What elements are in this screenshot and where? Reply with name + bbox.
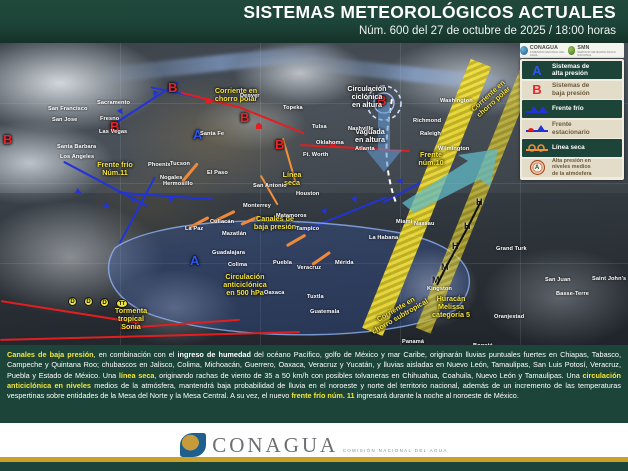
page-header: SISTEMAS METEOROLÓGICOS ACTUALES Núm. 60…: [0, 0, 628, 43]
grid-line: [0, 183, 628, 184]
forecast-summary-text: Canales de baja presión, en combinación …: [7, 350, 621, 402]
legend-label-stationary-front: Frente estacionario: [550, 121, 590, 136]
cold-front-barb: [168, 197, 174, 203]
legend-item-low-pressure[interactable]: B Sistemas de baja presión: [522, 81, 622, 99]
storm-marker-D: D: [84, 297, 93, 306]
legend-label-dry-line: Línea seca: [550, 144, 585, 151]
forecast-summary: Canales de baja presión, en combinación …: [0, 345, 628, 423]
cold-front-icon: [524, 101, 550, 117]
storm-marker-TT: TT: [116, 299, 128, 308]
legend-label-cold-front: Frente frío: [550, 105, 584, 112]
map-legend[interactable]: A Sistemas de alta presión B Sistemas de…: [520, 59, 624, 180]
legend-item-dry-line[interactable]: Línea seca: [522, 139, 622, 157]
conagua-footer-name: CONAGUA: [212, 433, 338, 457]
legend-label-high-pressure: Sistemas de alta presión: [550, 63, 589, 78]
smn-mark-icon: [568, 46, 576, 55]
pressure-high-A: A: [193, 128, 202, 141]
conagua-footer-subtitle: COMISIÓN NACIONAL DEL AGUA: [343, 448, 448, 453]
summary-highlight: Canales de baja presión: [7, 350, 94, 359]
footer-green-bar: [0, 462, 628, 471]
melissa-track-line: [425, 195, 491, 295]
storm-marker-D: D: [100, 298, 109, 307]
conagua-footer-logo: CONAGUA COMISIÓN NACIONAL DEL AGUA: [180, 433, 448, 458]
summary-highlight: frente frío núm. 11: [291, 391, 354, 400]
weather-map[interactable]: A A B B B B B B H H H M M D D D TT Corri…: [0, 43, 628, 345]
smn-logo: SMN SERVICIO METEOROLÓGICO NACIONAL: [568, 45, 624, 57]
pressure-low-B: B: [377, 94, 386, 107]
cold-front-barb: [130, 197, 136, 203]
conagua-logo: CONAGUA COMISIÓN NACIONAL DEL AGUA: [520, 45, 568, 57]
smn-logo-subtext: SERVICIO METEOROLÓGICO NACIONAL: [577, 51, 624, 57]
flow-arrow-teal-2: [350, 98, 410, 178]
letter-B-icon: B: [524, 82, 550, 98]
smn-logo-text: SMN: [577, 45, 589, 51]
legend-item-high-pressure[interactable]: A Sistemas de alta presión: [522, 61, 622, 79]
summary-text-run: ingresará durante la noche al noroeste d…: [355, 391, 519, 400]
conagua-eagle-icon: [180, 433, 206, 457]
cyclone-seal-icon: A: [524, 160, 550, 176]
legend-item-stationary-front[interactable]: Frente estacionario: [522, 120, 622, 138]
pressure-low-B: B: [275, 138, 284, 151]
legend-item-mid-level-high[interactable]: A Alta presión en niveles medios de la a…: [522, 159, 622, 177]
dry-line-icon: [524, 140, 550, 156]
summary-text-run: , originando rachas de viento de 35 a 50…: [154, 371, 582, 380]
legend-label-mid-level-high: Alta presión en niveles medios de la atm…: [550, 158, 592, 177]
pressure-low-B: B: [240, 111, 249, 124]
warm-front-bump: [330, 142, 336, 148]
pressure-low-B: B: [168, 81, 177, 94]
page-title: SISTEMAS METEOROLÓGICOS ACTUALES: [243, 2, 616, 23]
page-subtitle: Núm. 600 del 27 de octubre de 2025 / 18:…: [359, 25, 616, 37]
summary-highlight: ingreso de humedad: [178, 350, 251, 359]
summary-highlight: línea seca: [119, 371, 155, 380]
warm-front-bump: [205, 98, 211, 104]
pressure-high-A: A: [190, 254, 199, 267]
legend-label-low-pressure: Sistemas de baja presión: [550, 82, 590, 97]
stationary-front-icon: [524, 121, 550, 137]
conagua-logo-subtext: COMISIÓN NACIONAL DEL AGUA: [530, 51, 568, 57]
conagua-mark-icon: [520, 46, 528, 55]
summary-text-run: , en combinación con el: [94, 350, 178, 359]
pressure-low-B: B: [3, 133, 12, 146]
legend-item-cold-front[interactable]: Frente frío: [522, 100, 622, 118]
conagua-logo-text: CONAGUA: [530, 45, 558, 51]
agency-logos: CONAGUA COMISIÓN NACIONAL DEL AGUA SMN S…: [520, 43, 624, 58]
letter-A-icon: A: [524, 62, 550, 78]
warm-front-bump: [256, 123, 262, 129]
pressure-low-B: B: [110, 120, 119, 133]
page-footer: CONAGUA COMISIÓN NACIONAL DEL AGUA: [0, 423, 628, 471]
storm-marker-D: D: [68, 297, 77, 306]
